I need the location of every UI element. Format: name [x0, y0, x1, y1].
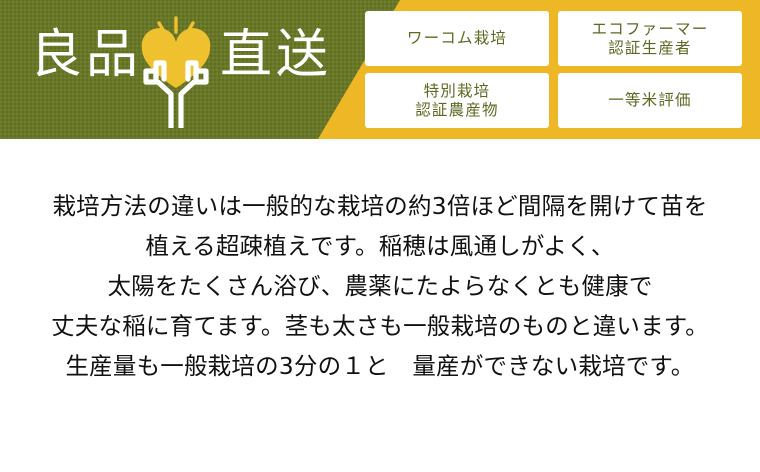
- promo-banner-page: 良品: [0, 0, 760, 472]
- badge-first-grade-rice[interactable]: 一等米評価: [558, 73, 742, 128]
- hands-holding-heart-icon: [134, 16, 218, 128]
- paragraph-line-3: 太陽をたくさん浴び、農薬にたよらなくとも健康で: [0, 266, 760, 306]
- badge-warcom[interactable]: ワーコム栽培: [365, 11, 549, 66]
- badge-eco-farmer[interactable]: エコファーマー 認証生産者: [558, 11, 742, 66]
- paragraph-line-5: 生産量も一般栽培の3分の１と 量産ができない栽培です。: [0, 346, 760, 386]
- badge-first-grade-rice-label: 一等米評価: [608, 91, 692, 110]
- certification-badge-grid: ワーコム栽培 エコファーマー 認証生産者 特別栽培 認証農産物 一等米評価: [365, 11, 742, 128]
- badge-warcom-label: ワーコム栽培: [407, 29, 507, 48]
- badge-special-cultivation-label: 特別栽培 認証農産物: [415, 82, 499, 120]
- logo-word-right: 直送: [220, 30, 332, 82]
- header-band: 良品: [0, 0, 760, 139]
- paragraph-line-1: 栽培方法の違いは一般的な栽培の約3倍ほど間隔を開けて苗を: [0, 186, 760, 226]
- paragraph-line-2: 植える超疎植えです。稲穂は風通しがよく、: [0, 226, 760, 266]
- paragraph-line-4: 丈夫な稲に育てます。茎も太さも一般栽培のものと違います。: [0, 306, 760, 346]
- logo-word-left: 良品: [30, 30, 142, 82]
- brand-logo: 良品: [24, 16, 354, 126]
- badge-eco-farmer-label: エコファーマー 認証生産者: [592, 20, 709, 58]
- badge-special-cultivation[interactable]: 特別栽培 認証農産物: [365, 73, 549, 128]
- description-paragraph: 栽培方法の違いは一般的な栽培の約3倍ほど間隔を開けて苗を 植える超疎植えです。稲…: [0, 186, 760, 386]
